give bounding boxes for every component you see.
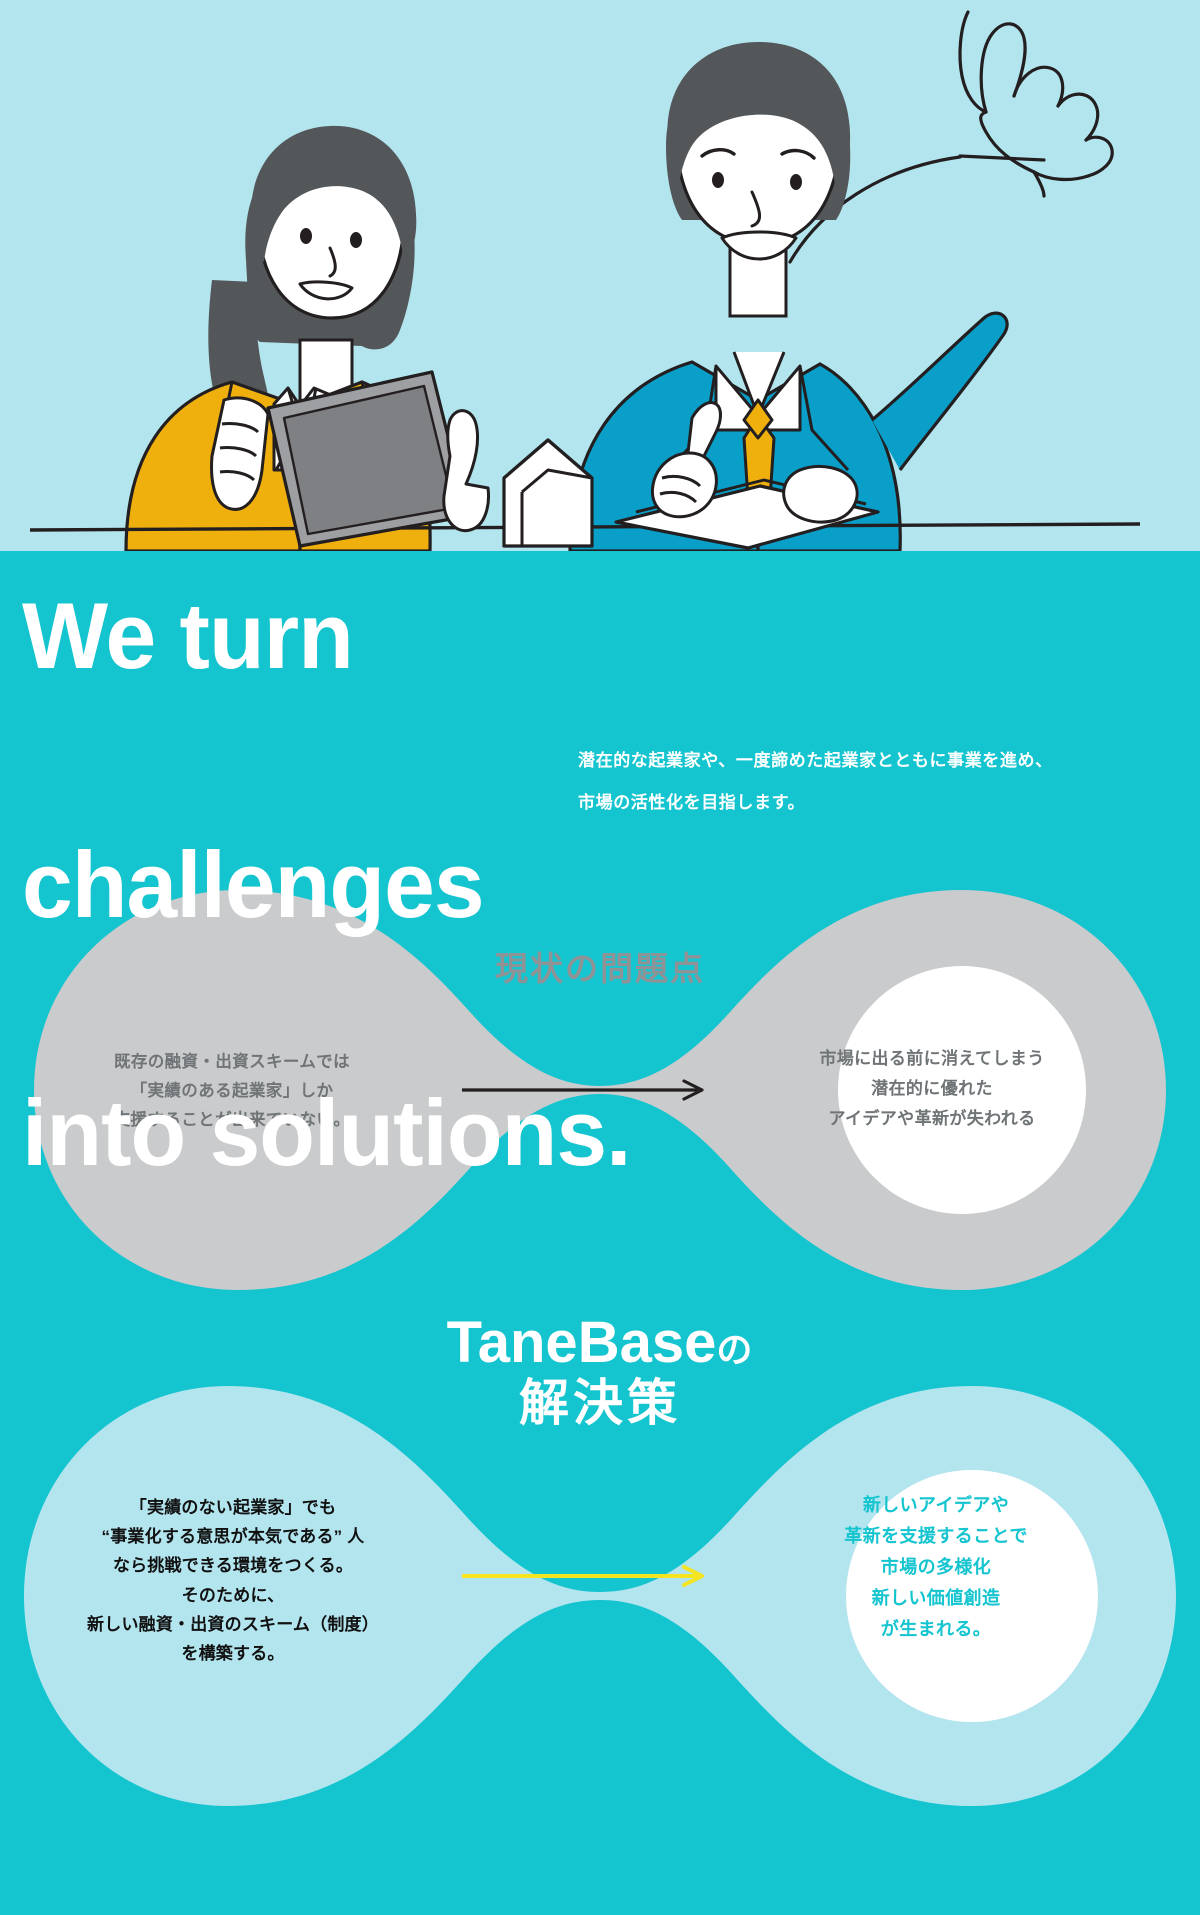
solution-left-line-2: “事業化する意思が本気である” 人 [48,1522,418,1551]
subtitle-line-2: 市場の活性化を目指します。 [578,782,1053,824]
solution-left-line-5: 新しい融資・出資のスキーム（制度） [48,1610,418,1639]
problem-right-line-1: 市場に出る前に消えてしまう [772,1044,1092,1074]
headline-line-1: We turn [22,595,630,678]
page-title: We turn challenges into solutions. [22,430,630,1340]
solution-right-line-3: 市場の多様化 [780,1552,1092,1583]
solution-right-line-5: が生まれる。 [780,1614,1092,1645]
solution-left-text: 「実績のない起業家」でも “事業化する意思が本気である” 人 なら挑戦できる環境… [48,1493,418,1668]
poster-page: We turn challenges into solutions. 潜在的な起… [0,0,1200,1915]
headline-line-2: challenges [22,844,630,927]
solution-title-line-2: 解決策 [0,1378,1200,1428]
problem-right-line-3: アイデアや革新が失われる [772,1104,1092,1134]
brand-particle: の [716,1329,753,1370]
subtitle-line-1: 潜在的な起業家や、一度諦めた起業家とともに事業を進め、 [578,740,1053,782]
problem-right-text: 市場に出る前に消えてしまう 潜在的に優れた アイデアや革新が失われる [772,1044,1092,1133]
solution-left-line-6: を構築する。 [48,1639,418,1668]
solution-left-line-4: そのために、 [48,1581,418,1610]
solution-left-line-3: なら挑戦できる環境をつくる。 [48,1551,418,1580]
solution-right-line-4: 新しい価値創造 [780,1583,1092,1614]
solution-left-line-1: 「実績のない起業家」でも [48,1493,418,1522]
hero-subtitle: 潜在的な起業家や、一度諦めた起業家とともに事業を進め、 市場の活性化を目指します… [578,740,1053,823]
problem-right-line-2: 潜在的に優れた [772,1074,1092,1104]
man-hand-resting [784,466,857,522]
solution-right-line-1: 新しいアイデアや [780,1490,1092,1521]
solution-right-line-2: 革新を支援することで [780,1521,1092,1552]
solution-right-text: 新しいアイデアや 革新を支援することで 市場の多様化 新しい価値創造 が生まれる… [780,1490,1092,1645]
solution-arrow-right-icon [460,1564,710,1593]
problem-arrow-right-icon [460,1078,710,1107]
